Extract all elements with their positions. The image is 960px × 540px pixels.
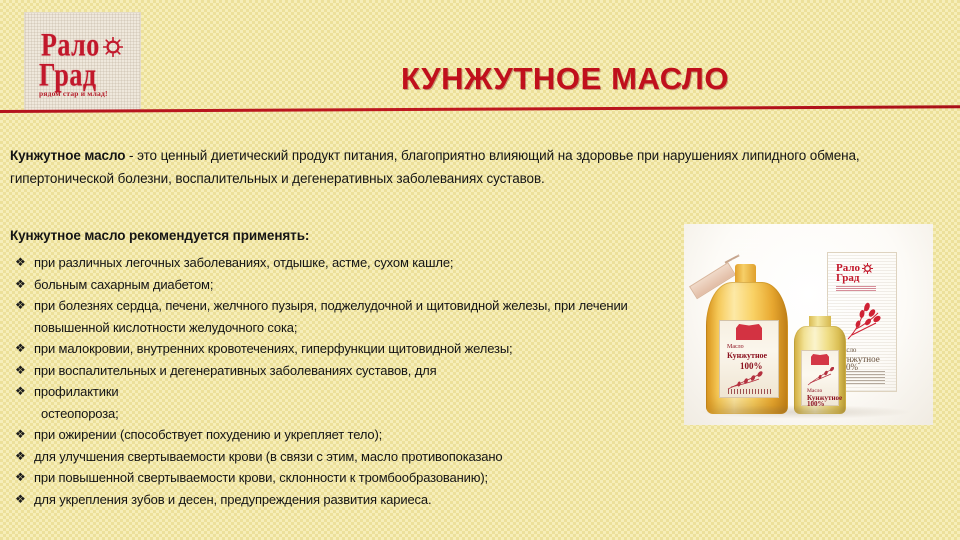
product-photo-scene: Рало Град (684, 224, 933, 425)
brand-logo-inner: Рало Град рядом ста (25, 13, 140, 111)
list-item-label: при различных легочных заболеваниях, отд… (34, 252, 692, 274)
brand-logo-tagline: рядом стар и млад! (39, 89, 108, 98)
list-item-label: при болезнях сердца, печени, желчного пу… (34, 295, 692, 338)
intro-rest: - это ценный диетический продукт питания… (10, 148, 860, 186)
carton-brand-logo: Рало Град (836, 263, 860, 283)
carton-brand-line2: Град (836, 273, 860, 283)
bullet-icon: ❖ (12, 360, 34, 382)
bullet-icon: ❖ (12, 467, 34, 489)
list-item: ❖при ожирении (способствует похудению и … (12, 424, 692, 446)
product-photo: Рало Град (684, 224, 933, 425)
small-bottle-cap (805, 297, 836, 318)
list-item-label: остеопороза; (34, 403, 692, 425)
big-bottle-label: Масло Кунжутное 100% (719, 320, 779, 398)
list-item: ❖профилактики (12, 381, 692, 403)
bullet-icon: ❖ (12, 424, 34, 446)
list-item-label: больным сахарным диабетом; (34, 274, 692, 296)
bullet-icon: ❖ (12, 252, 34, 274)
list-item-label: для улучшения свертываемости крови (в св… (34, 446, 692, 468)
product-shadow (698, 405, 913, 419)
bullet-icon: ❖ (12, 489, 34, 511)
list-item-label: при ожирении (способствует похудению и у… (34, 424, 692, 446)
brand-logo: Рало Град рядом ста (24, 12, 141, 112)
list-item: ❖при различных легочных заболеваниях, от… (12, 252, 692, 274)
recommendation-heading: Кунжутное масло рекомендуется применять: (10, 228, 309, 243)
small-bottle-label: Масло Кунжутное 100% (801, 350, 839, 406)
big-label-crest-icon (736, 324, 762, 340)
small-label-sprig-icon (806, 367, 836, 387)
bullet-icon: ❖ (12, 274, 34, 296)
list-item-label: при воспалительных и дегенеративных забо… (34, 360, 692, 382)
list-item-label: профилактики (34, 381, 692, 403)
slide: Рало Град рядом ста (0, 0, 960, 540)
list-item: ❖при малокровии, внутренних кровотечения… (12, 338, 692, 360)
recommendation-list: ❖при различных легочных заболеваниях, от… (12, 252, 692, 510)
bullet-icon: ❖ (12, 381, 34, 403)
sun-icon (103, 37, 123, 57)
big-label-barcode (728, 389, 772, 394)
list-item-label: при повышенной свертываемости крови, скл… (34, 467, 692, 489)
big-label-sprig-icon (726, 371, 772, 391)
carton-sun-icon (862, 261, 873, 272)
big-label-line3: 100% (740, 361, 763, 371)
list-item: ❖при воспалительных и дегенеративных заб… (12, 360, 692, 382)
list-item-label: при малокровии, внутренних кровотечениях… (34, 338, 692, 360)
list-item: ❖при болезнях сердца, печени, желчного п… (12, 295, 692, 338)
header-divider (0, 108, 960, 114)
sesame-sprig-icon (842, 301, 886, 341)
intro-lead: Кунжутное масло (10, 148, 125, 163)
bullet-icon: ❖ (12, 446, 34, 468)
big-label-line1: Масло (727, 343, 744, 351)
header-divider-bar (0, 105, 960, 112)
page-title: КУНЖУТНОЕ МАСЛО (170, 61, 960, 97)
list-item: ❖при повышенной свертываемости крови, ск… (12, 467, 692, 489)
list-item: ❖для укрепления зубов и десен, предупреж… (12, 489, 692, 511)
bullet-icon-placeholder: ❖ (12, 403, 34, 425)
bullet-icon: ❖ (12, 338, 34, 360)
big-label-line2: Кунжутное (727, 351, 767, 360)
list-item-label: для укрепления зубов и десен, предупрежд… (34, 489, 692, 511)
list-item: ❖больным сахарным диабетом; (12, 274, 692, 296)
small-label-crest-icon (811, 354, 829, 365)
intro-paragraph: Кунжутное масло - это ценный диетический… (10, 144, 948, 190)
list-item: ❖для улучшения свертываемости крови (в с… (12, 446, 692, 468)
carton-microtext (836, 286, 876, 291)
bullet-icon: ❖ (12, 295, 34, 317)
list-item-continuation: ❖остеопороза; (12, 403, 692, 425)
brand-logo-line2: Град (39, 59, 97, 92)
